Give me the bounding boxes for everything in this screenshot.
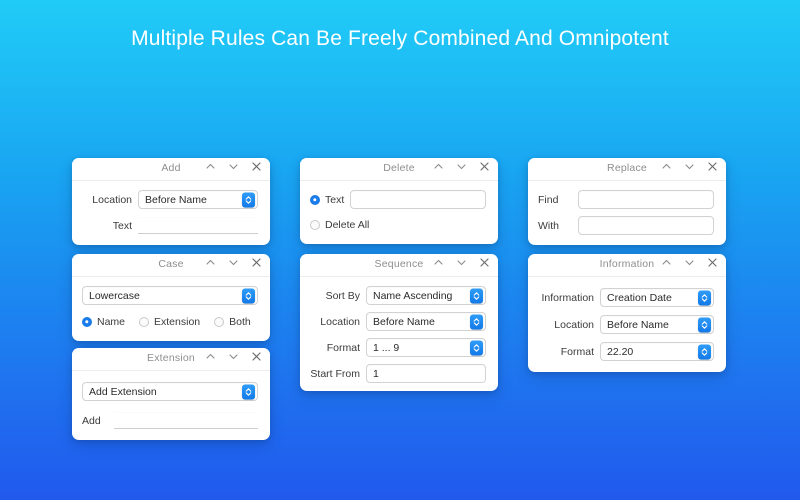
rule-card-extension: Extension Add Extension Add — [72, 348, 270, 440]
stepper-icon[interactable] — [698, 317, 711, 332]
location-select[interactable]: Before Name — [138, 190, 258, 209]
card-body: Sort By Name Ascending Location Before N… — [300, 277, 498, 391]
rule-card-add: Add Location Before Name Text — [72, 158, 270, 245]
window-controls — [661, 257, 718, 268]
window-controls — [205, 161, 262, 172]
close-icon[interactable] — [251, 257, 262, 268]
stepper-icon[interactable] — [698, 290, 711, 305]
stepper-icon[interactable] — [470, 288, 483, 303]
location-value: Before Name — [601, 319, 669, 331]
radio-label: Text — [325, 194, 344, 206]
rule-card-replace: Replace Find With — [528, 158, 726, 245]
radio-dot — [310, 220, 320, 230]
stepper-icon[interactable] — [242, 192, 255, 207]
chevron-down-icon[interactable] — [456, 161, 467, 172]
start-from-value: 1 — [367, 368, 379, 380]
row-label: Text — [84, 220, 138, 232]
row-label: Information — [536, 292, 600, 304]
form-row-information: Information Creation Date — [536, 288, 714, 307]
radio-dot — [310, 195, 320, 205]
chevron-down-icon[interactable] — [456, 257, 467, 268]
information-select[interactable]: Creation Date — [600, 288, 714, 307]
radio-label: Name — [97, 316, 125, 328]
add-input[interactable] — [114, 412, 258, 429]
chevron-up-icon[interactable] — [205, 161, 216, 172]
extension-mode-value: Add Extension — [83, 386, 157, 398]
rule-card-delete: Delete Text Delete All — [300, 158, 498, 244]
form-row-location: Location Before Name — [308, 312, 486, 331]
rule-card-sequence: Sequence Sort By Name Ascending Location… — [300, 254, 498, 391]
stepper-icon[interactable] — [242, 288, 255, 303]
radio-dot — [214, 317, 224, 327]
form-row-format: Format 22.20 — [536, 342, 714, 361]
format-select[interactable]: 22.20 — [600, 342, 714, 361]
row-label: With — [538, 220, 578, 232]
case-mode-select[interactable]: Lowercase — [82, 286, 258, 305]
format-value: 22.20 — [601, 346, 633, 358]
start-from-input[interactable]: 1 — [366, 364, 486, 383]
card-body: Information Creation Date Location Befor… — [528, 277, 726, 372]
radio-dot — [139, 317, 149, 327]
extension-mode-select[interactable]: Add Extension — [82, 382, 258, 401]
form-row-add: Add — [82, 411, 258, 430]
row-label: Location — [536, 319, 600, 331]
delete-text-input[interactable] — [350, 190, 486, 209]
option-row-text: Text — [310, 190, 486, 209]
form-row-text: Text — [84, 216, 258, 235]
radio-label: Both — [229, 316, 251, 328]
chevron-down-icon[interactable] — [228, 161, 239, 172]
window-controls — [433, 161, 490, 172]
card-titlebar: Replace — [528, 158, 726, 181]
window-controls — [433, 257, 490, 268]
card-titlebar: Case — [72, 254, 270, 277]
close-icon[interactable] — [479, 257, 490, 268]
card-titlebar: Information — [528, 254, 726, 277]
chevron-down-icon[interactable] — [228, 351, 239, 362]
row-label: Location — [308, 316, 366, 328]
sort-by-value: Name Ascending — [367, 290, 452, 302]
row-label: Add — [82, 415, 114, 427]
window-controls — [205, 351, 262, 362]
text-input[interactable] — [138, 217, 258, 234]
page-title: Multiple Rules Can Be Freely Combined An… — [0, 27, 800, 51]
chevron-up-icon[interactable] — [661, 161, 672, 172]
form-row-location: Location Before Name — [84, 190, 258, 209]
form-row-sort-by: Sort By Name Ascending — [308, 286, 486, 305]
chevron-down-icon[interactable] — [228, 257, 239, 268]
option-row-delete-all: Delete All — [310, 215, 486, 234]
form-row-location: Location Before Name — [536, 315, 714, 334]
close-icon[interactable] — [707, 257, 718, 268]
option-row-case-target: Name Extension Both — [82, 312, 258, 331]
radio-option-both[interactable]: Both — [214, 316, 251, 328]
radio-label: Extension — [154, 316, 200, 328]
close-icon[interactable] — [479, 161, 490, 172]
location-select[interactable]: Before Name — [600, 315, 714, 334]
card-body: Add Extension Add — [72, 371, 270, 440]
radio-dot — [82, 317, 92, 327]
chevron-up-icon[interactable] — [433, 257, 444, 268]
row-label: Format — [536, 346, 600, 358]
card-titlebar: Extension — [72, 348, 270, 371]
window-controls — [205, 257, 262, 268]
window-controls — [661, 161, 718, 172]
with-input[interactable] — [578, 216, 714, 235]
chevron-up-icon[interactable] — [205, 351, 216, 362]
row-label: Format — [308, 342, 366, 354]
card-titlebar: Add — [72, 158, 270, 181]
row-label: Sort By — [308, 290, 366, 302]
stepper-icon[interactable] — [698, 344, 711, 359]
card-body: Location Before Name Text — [72, 181, 270, 245]
row-label: Start From — [308, 368, 366, 380]
rule-card-case: Case Lowercase Name Extension — [72, 254, 270, 341]
card-body: Lowercase Name Extension Both — [72, 277, 270, 341]
radio-option-name[interactable]: Name — [82, 316, 125, 328]
card-body: Find With — [528, 181, 726, 245]
case-mode-value: Lowercase — [83, 290, 140, 302]
chevron-up-icon[interactable] — [205, 257, 216, 268]
form-row-case-mode: Lowercase — [82, 286, 258, 305]
chevron-down-icon[interactable] — [684, 257, 695, 268]
location-select[interactable]: Before Name — [366, 312, 486, 331]
row-label: Location — [84, 194, 138, 206]
format-select[interactable]: 1 ... 9 — [366, 338, 486, 357]
form-row-find: Find — [538, 190, 714, 209]
form-row-format: Format 1 ... 9 — [308, 338, 486, 357]
radio-option-text[interactable]: Text — [310, 194, 344, 206]
find-input[interactable] — [578, 190, 714, 209]
stepper-icon[interactable] — [470, 314, 483, 329]
form-row-extension-mode: Add Extension — [82, 382, 258, 401]
card-titlebar: Delete — [300, 158, 498, 181]
card-body: Text Delete All — [300, 181, 498, 244]
chevron-up-icon[interactable] — [433, 161, 444, 172]
close-icon[interactable] — [707, 161, 718, 172]
sort-by-select[interactable]: Name Ascending — [366, 286, 486, 305]
card-titlebar: Sequence — [300, 254, 498, 277]
radio-option-delete-all[interactable]: Delete All — [310, 219, 369, 231]
close-icon[interactable] — [251, 351, 262, 362]
location-value: Before Name — [367, 316, 435, 328]
rule-card-information: Information Information Creation Date Lo… — [528, 254, 726, 372]
chevron-up-icon[interactable] — [661, 257, 672, 268]
format-value: 1 ... 9 — [367, 342, 399, 354]
stepper-icon[interactable] — [470, 340, 483, 355]
stepper-icon[interactable] — [242, 384, 255, 399]
location-value: Before Name — [139, 194, 207, 206]
radio-option-extension[interactable]: Extension — [139, 316, 200, 328]
chevron-down-icon[interactable] — [684, 161, 695, 172]
information-value: Creation Date — [601, 292, 672, 304]
radio-label: Delete All — [325, 219, 369, 231]
close-icon[interactable] — [251, 161, 262, 172]
row-label: Find — [538, 194, 578, 206]
form-row-with: With — [538, 216, 714, 235]
form-row-start-from: Start From 1 — [308, 364, 486, 383]
